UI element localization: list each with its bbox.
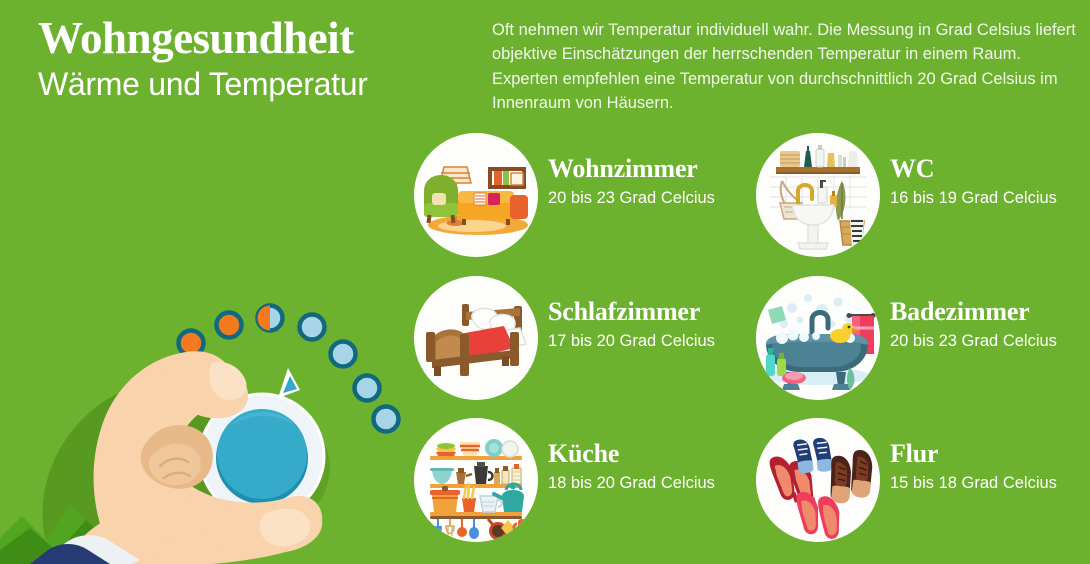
room-card-badezimmer[interactable]: Badezimmer 20 bis 23 Grad Celcius xyxy=(748,271,1090,417)
room-name: Küche xyxy=(548,439,748,468)
hand-thermostat-illustration xyxy=(0,120,420,564)
intro-paragraph: Oft nehmen wir Temperatur individuell wa… xyxy=(492,18,1078,115)
room-card-schlafzimmer[interactable]: Schlafzimmer 17 bis 20 Grad Celcius xyxy=(406,271,748,417)
arc-dot-7 xyxy=(374,407,399,432)
room-text-kueche: Küche 18 bis 20 Grad Celcius xyxy=(548,439,748,494)
room-temperature: 18 bis 20 Grad Celcius xyxy=(548,473,748,494)
wc-sink-icon xyxy=(756,133,880,257)
bedroom-bed-icon xyxy=(414,276,538,400)
infographic-wohngesundheit: Wohngesundheit Wärme und Temperatur Oft … xyxy=(0,0,1090,564)
page-title: Wohngesundheit xyxy=(38,16,478,62)
room-card-wohnzimmer[interactable]: Wohnzimmer 20 bis 23 Grad Celcius xyxy=(406,128,748,274)
arc-dot-5 xyxy=(331,342,356,367)
kitchen-shelves-icon xyxy=(414,418,538,542)
room-name: Schlafzimmer xyxy=(548,297,748,326)
arc-dot-2 xyxy=(217,313,242,338)
room-temperature: 17 bis 20 Grad Celcius xyxy=(548,331,748,352)
room-name: Wohnzimmer xyxy=(548,154,748,183)
bathroom-bathtub-icon xyxy=(756,276,880,400)
room-temperature: 16 bis 19 Grad Celcius xyxy=(890,188,1090,209)
room-card-wc[interactable]: WC 16 bis 19 Grad Celcius xyxy=(748,128,1090,274)
room-card-kueche[interactable]: Küche 18 bis 20 Grad Celcius xyxy=(406,413,748,559)
page-subtitle: Wärme und Temperatur xyxy=(38,66,478,103)
dial-pointer-icon xyxy=(278,368,300,398)
room-name: Flur xyxy=(890,439,1090,468)
room-text-badezimmer: Badezimmer 20 bis 23 Grad Celcius xyxy=(890,297,1090,352)
room-temperature: 20 bis 23 Grad Celcius xyxy=(548,188,748,209)
room-text-flur: Flur 15 bis 18 Grad Celcius xyxy=(890,439,1090,494)
room-text-wohnzimmer: Wohnzimmer 20 bis 23 Grad Celcius xyxy=(548,154,748,209)
room-list: Wohnzimmer 20 bis 23 Grad Celcius xyxy=(406,128,1090,564)
room-card-flur[interactable]: Flur 15 bis 18 Grad Celcius xyxy=(748,413,1090,559)
room-text-wc: WC 16 bis 19 Grad Celcius xyxy=(890,154,1090,209)
arc-dot-3-transition xyxy=(258,306,283,331)
room-text-schlafzimmer: Schlafzimmer 17 bis 20 Grad Celcius xyxy=(548,297,748,352)
room-name: Badezimmer xyxy=(890,297,1090,326)
room-temperature: 15 bis 18 Grad Celcius xyxy=(890,473,1090,494)
living-room-icon xyxy=(414,133,538,257)
arc-dot-4 xyxy=(300,315,325,340)
header-block: Wohngesundheit Wärme und Temperatur xyxy=(38,16,478,103)
room-name: WC xyxy=(890,154,1090,183)
arc-dot-6 xyxy=(355,376,380,401)
room-temperature: 20 bis 23 Grad Celcius xyxy=(890,331,1090,352)
hallway-shoes-icon xyxy=(756,418,880,542)
